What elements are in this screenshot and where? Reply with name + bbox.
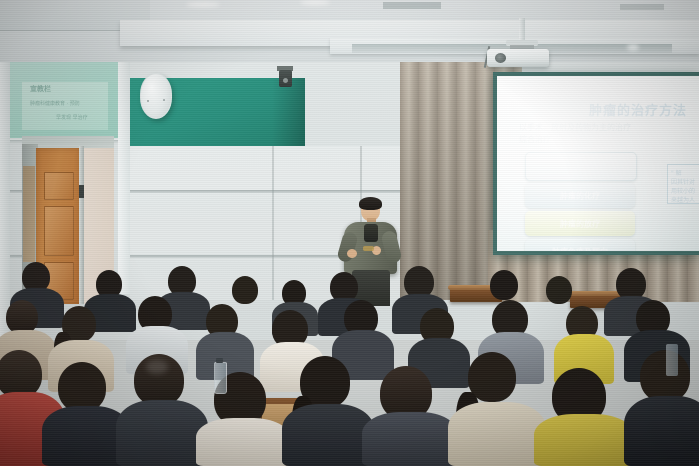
ceiling-light-1: [186, 2, 220, 7]
presenter-belt: [363, 246, 374, 251]
slide-box-1: 肿瘤的化疗: [525, 183, 635, 208]
slide-callout-line-3: 用较小的: [671, 186, 695, 195]
ceiling-vent-icon: [383, 2, 441, 9]
water-bottle-2[interactable]: [666, 344, 678, 376]
wall-pilaster-left: [0, 40, 10, 340]
inner-door: [23, 166, 35, 262]
slide-box-2: 肿瘤的放疗: [525, 211, 635, 236]
wall-sign-board: 宣教栏 肿瘤科健康教育 · 预防 早发现 早治疗: [6, 58, 122, 140]
ceiling-downlight: [627, 44, 639, 51]
projection-screen: 肿瘤的治疗方法 以手术、放射及药物为主的治疗 综合治疗 肿瘤的化疗 肿瘤的放疗 …: [497, 76, 699, 251]
presenter-hand-left: [347, 249, 357, 258]
ceiling-light-2: [300, 0, 330, 5]
door-frame-edge: [79, 146, 84, 304]
presenter-shirt: [364, 224, 378, 242]
wall-speaker-icon: [140, 73, 172, 119]
presenter-hair: [359, 197, 382, 210]
slide-box-0: [525, 152, 637, 181]
lecture-hall-photo: 宣教栏 肿瘤科健康教育 · 预防 早发现 早治疗: [0, 0, 699, 466]
slide-box-3-label: 肿瘤免疫及靶向: [525, 246, 635, 251]
wall-panel-upper: [130, 146, 430, 190]
slide-callout-line-2: 因其针对: [671, 177, 695, 186]
slide-box-2-label: 肿瘤的放疗: [525, 218, 635, 229]
wall-sign-title: 宣教栏: [30, 84, 51, 94]
slide-box-1-label: 肿瘤的化疗: [525, 190, 635, 201]
wall-sign-subtitle-2: 早发现 早治疗: [56, 114, 88, 121]
water-bottle-cap: [216, 358, 223, 363]
wall-pilaster-mid: [118, 44, 130, 294]
slide-subtitle-line-1: 以手术、放射及药物为主的治疗: [519, 122, 631, 133]
camera-lens-icon: [283, 78, 288, 83]
slide-callout-box: " 解 因其针对 用较小的 来越为人: [667, 164, 699, 204]
slide-callout-line-1: " 解: [671, 168, 682, 177]
water-bottle[interactable]: [214, 362, 227, 394]
slide-subtitle-line-2: 综合治疗: [519, 134, 551, 145]
wall-sign-subtitle-1: 肿瘤科健康教育 · 预防: [30, 100, 80, 107]
slide-box-3: 肿瘤免疫及靶向: [525, 239, 635, 251]
wall-vseam-1: [272, 146, 274, 300]
projector-mount-pole: [519, 18, 525, 42]
slide-callout-line-4: 来越为人: [671, 195, 695, 204]
door-lock-icon[interactable]: [79, 185, 84, 198]
ceiling-vent-icon-2: [620, 4, 664, 10]
door-header: [22, 136, 114, 144]
teal-band-shadow: [272, 78, 305, 146]
slide-title: 肿瘤的治疗方法: [589, 100, 687, 119]
projector-lens-icon: [495, 53, 506, 63]
